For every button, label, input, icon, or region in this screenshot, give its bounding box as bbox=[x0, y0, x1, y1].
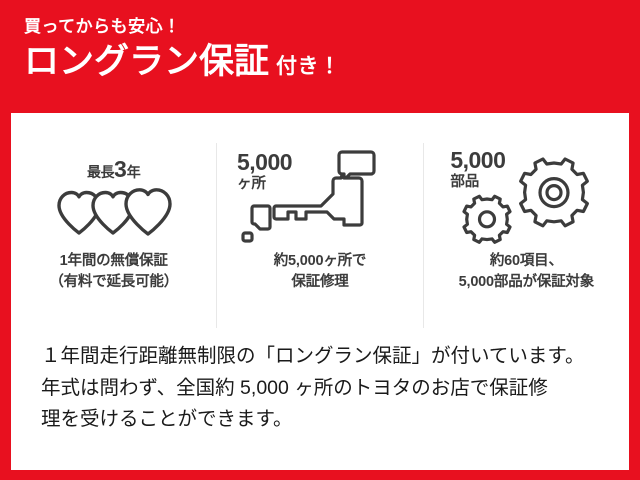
caption-line-1: 約5,000ヶ所で bbox=[274, 251, 367, 272]
content-panel: 最長3年 1年間の無償保証 （有料で延長可能） bbox=[11, 113, 629, 470]
caption-line-1: 約60項目、 bbox=[459, 251, 594, 272]
feature-column-service-locations: 5,000 ヶ所 bbox=[216, 143, 422, 328]
feature-caption-service-locations: 約5,000ヶ所で 保証修理 bbox=[274, 251, 367, 293]
header-title-suffix: 付き！ bbox=[276, 55, 341, 78]
longrun-warranty-banner: 買ってからも安心！ ロングラン保証付き！ 最長3年 bbox=[0, 0, 640, 480]
gears-icon-block: 5,000 部品 bbox=[424, 143, 629, 251]
caption-line-2: （有料で延長可能） bbox=[49, 272, 178, 293]
hearts-label-suffix: 年 bbox=[127, 164, 141, 180]
three-hearts-icon bbox=[55, 187, 173, 237]
feature-column-warranty-period: 最長3年 1年間の無償保証 （有料で延長可能） bbox=[11, 143, 216, 328]
body-copy-line-1: １年間走行距離無制限の「ロングラン保証」が付いています。 bbox=[41, 341, 611, 373]
hearts-label-number: 3 bbox=[114, 156, 127, 182]
body-copy: １年間走行距離無制限の「ロングラン保証」が付いています。 年式は問わず、全国約 … bbox=[41, 341, 611, 436]
caption-line-2: 5,000部品が保証対象 bbox=[459, 272, 594, 293]
body-copy-line-3: 理を受けることができます。 bbox=[41, 404, 611, 436]
header-title-main: ロングラン保証 bbox=[24, 42, 269, 81]
feature-caption-covered-parts: 約60項目、 5,000部品が保証対象 bbox=[459, 251, 594, 293]
header-title: ロングラン保証付き！ bbox=[24, 44, 604, 79]
hearts-icon-block: 最長3年 bbox=[11, 143, 216, 251]
body-copy-line-2: 年式は問わず、全国約 5,000 ヶ所のトヨタのお店で保証修 bbox=[41, 373, 611, 405]
gears-icon-wrap: 5,000 部品 bbox=[436, 147, 616, 247]
japan-map-icon bbox=[241, 147, 401, 247]
hearts-label-prefix: 最長 bbox=[87, 164, 114, 180]
hearts-label: 最長3年 bbox=[39, 158, 189, 181]
japan-map-icon-wrap: 5,000 ヶ所 bbox=[235, 147, 405, 247]
caption-line-1: 1年間の無償保証 bbox=[49, 251, 178, 272]
feature-columns: 最長3年 1年間の無償保証 （有料で延長可能） bbox=[11, 143, 629, 328]
feature-caption-warranty-period: 1年間の無償保証 （有料で延長可能） bbox=[49, 251, 178, 293]
header-kicker: 買ってからも安心！ bbox=[24, 18, 604, 37]
gears-icon bbox=[454, 147, 604, 247]
feature-column-covered-parts: 5,000 部品 bbox=[423, 143, 629, 328]
hearts-icon-wrap: 最長3年 bbox=[39, 158, 189, 237]
caption-line-2: 保証修理 bbox=[274, 272, 367, 293]
banner-header: 買ってからも安心！ ロングラン保証付き！ bbox=[24, 18, 604, 79]
japan-map-icon-block: 5,000 ヶ所 bbox=[217, 143, 422, 251]
